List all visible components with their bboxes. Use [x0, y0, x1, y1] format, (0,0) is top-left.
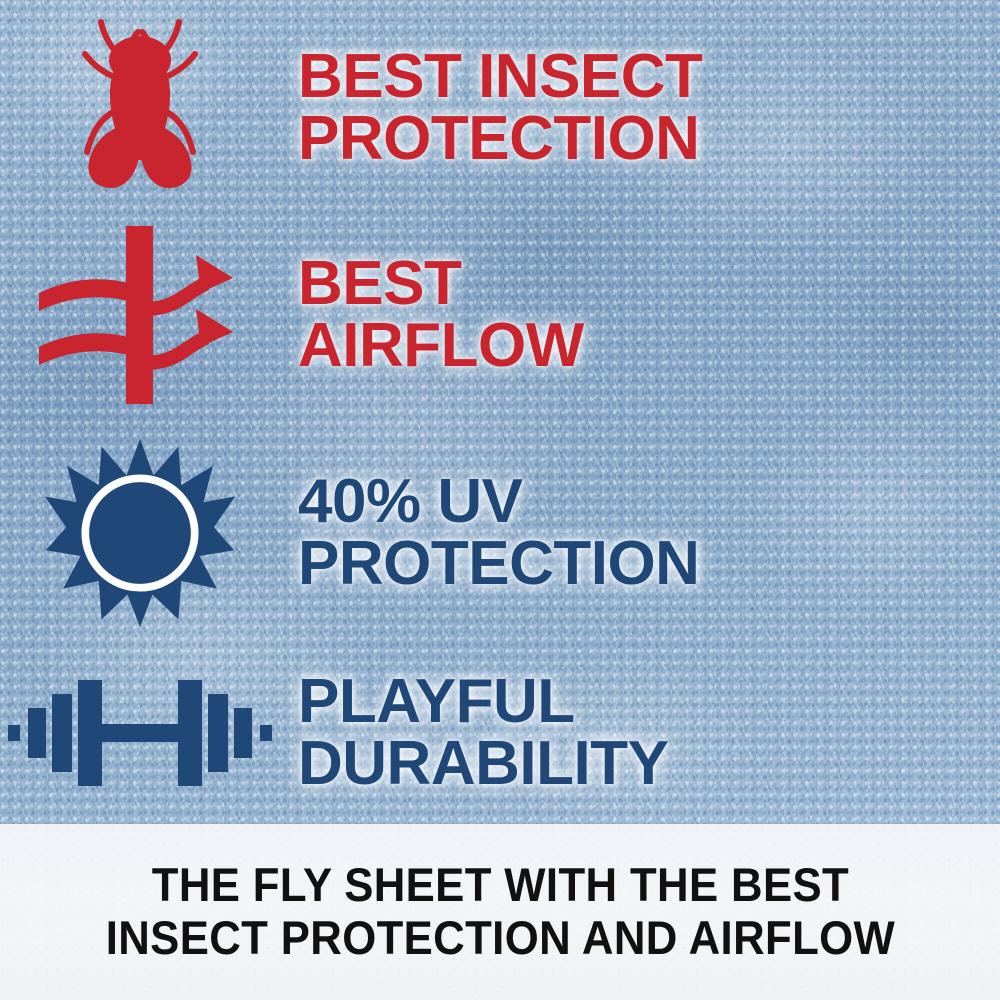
feature-icon-cell — [0, 428, 280, 638]
sun-uv-icon — [44, 437, 236, 629]
feature-label-line: 40% UV — [298, 471, 699, 533]
feature-row-insect-protection: BEST INSECT PROTECTION — [0, 8, 1000, 208]
feature-text-cell: 40% UV PROTECTION — [280, 471, 699, 595]
caption-line: THE FLY SHEET WITH THE BEST — [105, 859, 894, 912]
feature-row-durability: PLAYFUL DURABILITY — [0, 645, 1000, 820]
feature-row-uv-protection: 40% UV PROTECTION — [0, 428, 1000, 638]
product-caption: THE FLY SHEET WITH THE BEST INSECT PROTE… — [105, 859, 894, 964]
feature-label-line: BEST — [298, 253, 584, 315]
feature-text-cell: BEST AIRFLOW — [280, 253, 584, 377]
fly-icon — [65, 16, 215, 201]
feature-rows: BEST INSECT PROTECTION — [0, 0, 1000, 824]
feature-label-line: AIRFLOW — [298, 315, 584, 377]
feature-label-line: DURABILITY — [298, 733, 668, 795]
feature-icon-cell — [0, 645, 280, 820]
feature-label-line: BEST INSECT — [298, 46, 702, 108]
caption-band: THE FLY SHEET WITH THE BEST INSECT PROTE… — [0, 824, 1000, 1000]
feature-label-durability: PLAYFUL DURABILITY — [298, 671, 668, 795]
feature-icon-cell — [0, 8, 280, 208]
airflow-arrows-icon — [33, 220, 248, 410]
feature-label-line: PROTECTION — [298, 108, 702, 170]
caption-line: INSECT PROTECTION AND AIRFLOW — [105, 912, 894, 965]
feature-label-insect-protection: BEST INSECT PROTECTION — [298, 46, 702, 170]
feature-text-cell: BEST INSECT PROTECTION — [280, 46, 702, 170]
feature-text-cell: PLAYFUL DURABILITY — [280, 671, 668, 795]
feature-icon-cell — [0, 215, 280, 415]
feature-label-line: PLAYFUL — [298, 671, 668, 733]
feature-label-airflow: BEST AIRFLOW — [298, 253, 584, 377]
feature-label-uv-protection: 40% UV PROTECTION — [298, 471, 699, 595]
feature-label-line: PROTECTION — [298, 533, 699, 595]
feature-row-airflow: BEST AIRFLOW — [0, 215, 1000, 415]
product-feature-infographic: BEST INSECT PROTECTION — [0, 0, 1000, 1000]
dumbbell-icon — [6, 668, 274, 798]
